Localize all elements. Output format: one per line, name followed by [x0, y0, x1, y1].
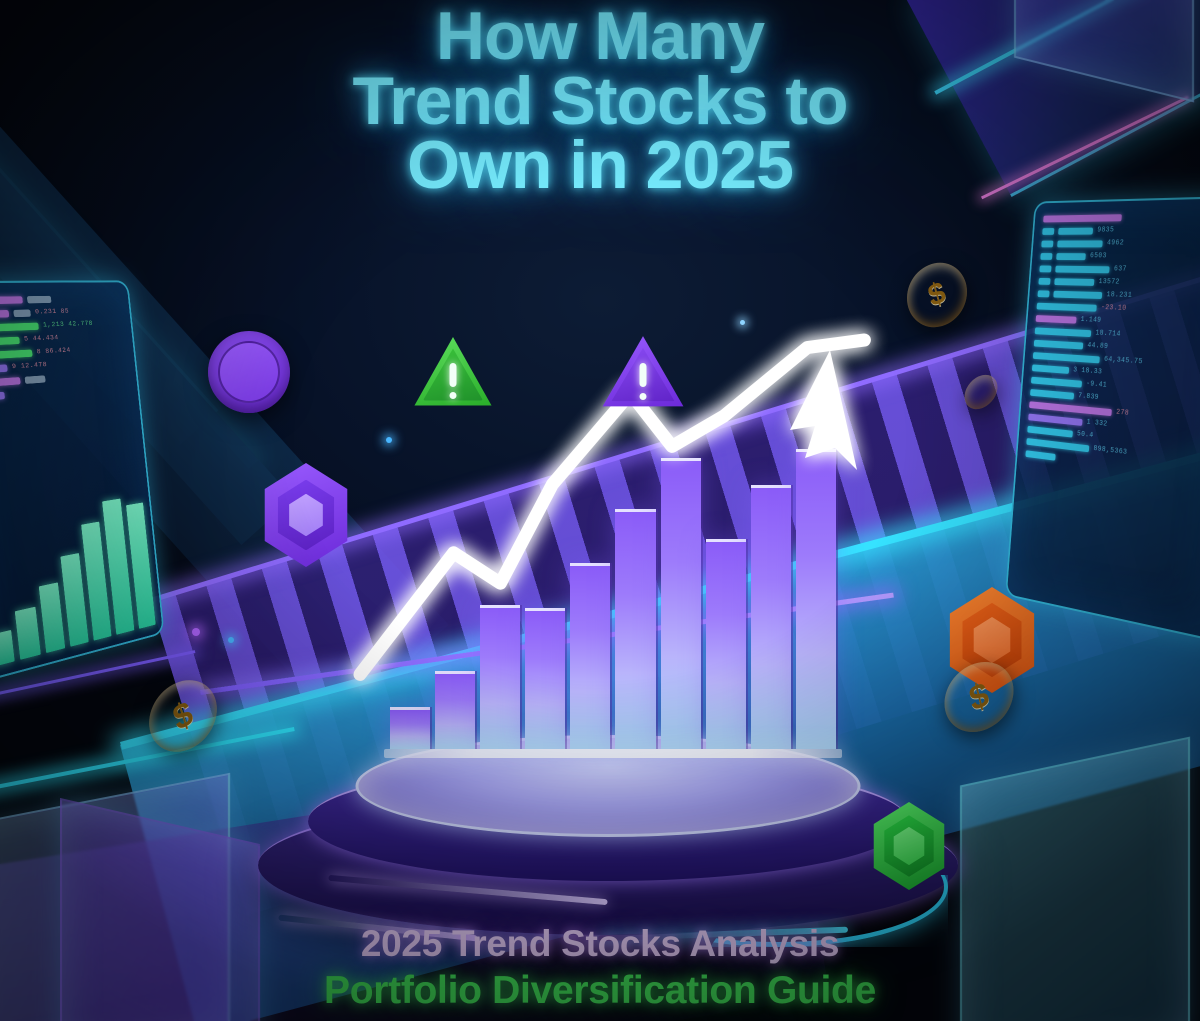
title-line-2: Trend Stocks to: [0, 69, 1200, 134]
sparkle-dot: [386, 437, 392, 443]
holo-left-number: 1,213 42.778: [43, 320, 94, 330]
gold-coin-icon[interactable]: $: [141, 667, 226, 764]
holo-right-number: 18.714: [1095, 329, 1121, 338]
holo-left-rows: 0.231 85 1,213 42.778 5 44.434 8 86.424 …: [0, 294, 129, 402]
podium: [258, 735, 958, 925]
holographic-stock-table-right[interactable]: 9835 4962 6503 637 13572 18.231 -23.10 1…: [1005, 196, 1200, 642]
page-title: How Many Trend Stocks to Own in 2025: [0, 4, 1200, 198]
holo-right-number: 44.89: [1087, 342, 1108, 351]
holo-right-number: 13572: [1098, 278, 1120, 286]
subtitle-line-1: 2025 Trend Stocks Analysis: [0, 923, 1200, 965]
holo-left-number: 9 12.478: [12, 361, 48, 371]
holo-right-rows: 9835 4962 6503 637 13572 18.231 -23.10 1…: [1025, 211, 1200, 482]
holo-right-number: 64,345.75: [1104, 356, 1143, 367]
chart-baseline: [384, 749, 842, 758]
sparkle-dot: [192, 628, 200, 636]
title-line-3: Own in 2025: [0, 133, 1200, 198]
holo-right-number: -23.10: [1101, 304, 1127, 313]
holo-right-number: 898,5363: [1093, 445, 1127, 457]
holo-right-number: 7.839: [1078, 392, 1099, 402]
holo-left-number: 8 86.424: [36, 347, 71, 357]
holographic-data-panel-left[interactable]: 0.231 85 1,213 42.778 5 44.434 8 86.424 …: [0, 280, 165, 681]
holo-right-number: 278: [1116, 409, 1130, 418]
sparkle-dot: [740, 320, 745, 325]
coin-symbol: $: [925, 275, 950, 314]
holo-right-number: 1.149: [1080, 316, 1101, 325]
holo-right-number: 4962: [1107, 239, 1125, 247]
holo-right-number: -9.41: [1086, 380, 1107, 390]
holo-left-number: 5 44.434: [24, 334, 59, 344]
subtitle-block: 2025 Trend Stocks Analysis Portfolio Div…: [0, 923, 1200, 1013]
cyan-floor-line-left: [0, 727, 295, 794]
title-line-1: How Many: [0, 4, 1200, 69]
subtitle-line-2: Portfolio Diversification Guide: [0, 969, 1200, 1013]
coin-symbol: $: [965, 674, 992, 719]
infographic-canvas: 0.231 85 1,213 42.778 5 44.434 8 86.424 …: [0, 0, 1200, 1021]
holo-right-number: 6503: [1090, 252, 1107, 260]
holo-right-number: 18.231: [1106, 291, 1132, 300]
holo-right-number: 637: [1114, 265, 1127, 273]
holo-right-number: 3 18.33: [1073, 366, 1102, 376]
gold-coin-icon[interactable]: $: [900, 253, 975, 337]
holo-left-number: 0.231 85: [35, 308, 70, 317]
gold-coin-icon-small[interactable]: [960, 368, 1001, 416]
holo-left-mini-bar-chart: [0, 495, 156, 667]
holo-right-number: 50.4: [1077, 430, 1094, 440]
green-hexagon-icon[interactable]: [868, 802, 950, 890]
holo-right-number: 9835: [1097, 226, 1114, 234]
holo-right-number: 1 332: [1086, 419, 1107, 429]
purple-circle-icon[interactable]: [208, 331, 290, 413]
purple-hexagon-icon[interactable]: [258, 463, 354, 567]
coin-symbol: $: [168, 693, 197, 739]
sparkle-dot: [228, 637, 234, 643]
